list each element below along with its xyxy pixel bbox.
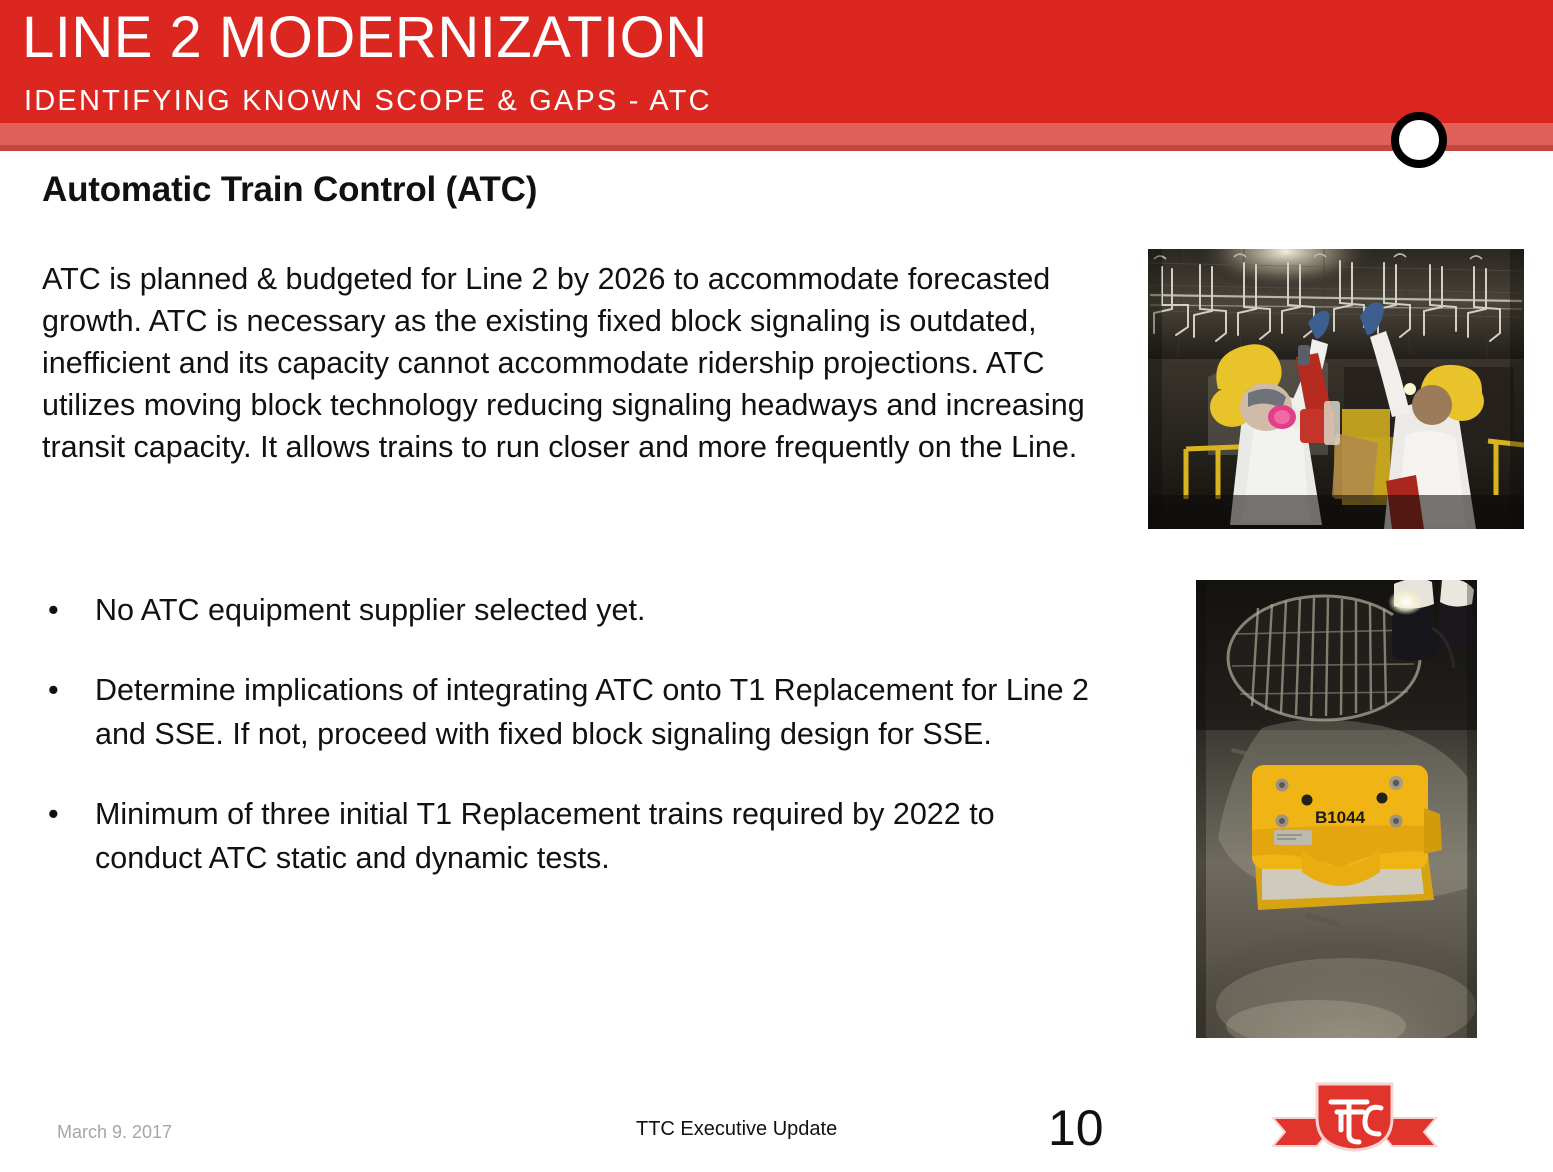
ttc-logo-icon [1271, 1072, 1438, 1152]
tunnel-workers-photo [1148, 249, 1524, 529]
list-item: • Determine implications of integrating … [42, 668, 1102, 756]
list-item-label: No ATC equipment supplier selected yet. [95, 593, 645, 627]
list-item: • Minimum of three initial T1 Replacemen… [42, 792, 1102, 880]
signal-beacon-photo-art: B1044 [1196, 580, 1477, 1038]
beacon-label: B1044 [1315, 808, 1366, 827]
footer-center-text: TTC Executive Update [636, 1118, 837, 1141]
list-item-label: Determine implications of integrating AT… [95, 673, 1089, 751]
bullet-dot-icon: • [48, 588, 59, 632]
list-item-label: Minimum of three initial T1 Replacement … [95, 797, 995, 875]
page-number: 10 [1048, 1099, 1104, 1157]
header-accent-band-light [0, 123, 1553, 145]
bullet-list: • No ATC equipment supplier selected yet… [42, 588, 1102, 916]
footer-date: March 9. 2017 [57, 1122, 172, 1143]
header-accent-band-dark [0, 145, 1553, 151]
slide-canvas: LINE 2 MODERNIZATION IDENTIFYING KNOWN S… [0, 0, 1553, 1172]
bullet-dot-icon: • [48, 668, 59, 712]
intro-paragraph: ATC is planned & budgeted for Line 2 by … [42, 258, 1132, 468]
bullet-dot-icon: • [48, 792, 59, 836]
tunnel-workers-photo-art [1148, 249, 1524, 529]
ttc-logo [1271, 1072, 1438, 1152]
slide-title: LINE 2 MODERNIZATION [22, 5, 708, 71]
section-heading: Automatic Train Control (ATC) [42, 170, 537, 210]
slide-subtitle: IDENTIFYING KNOWN SCOPE & GAPS - ATC [24, 84, 712, 118]
list-item: • No ATC equipment supplier selected yet… [42, 588, 1102, 632]
signal-beacon-photo: B1044 [1196, 580, 1477, 1038]
ring-marker-icon [1391, 112, 1447, 168]
